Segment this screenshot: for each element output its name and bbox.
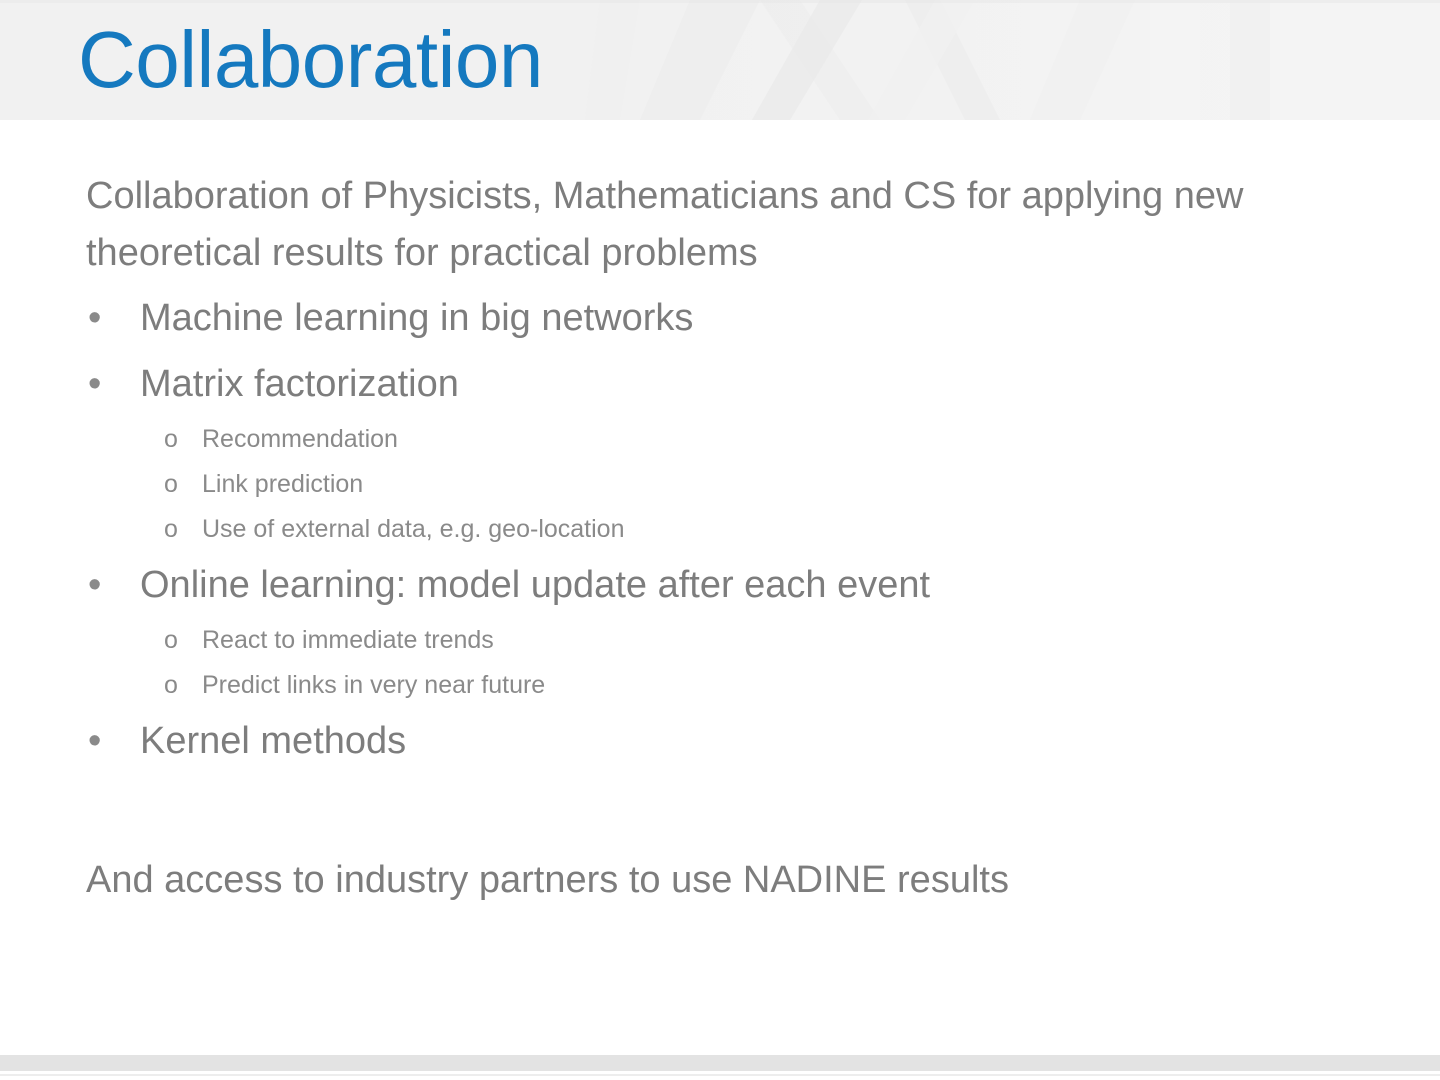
slide-header: Collaboration <box>0 0 1440 120</box>
list-item: • Machine learning in big networks <box>0 285 1440 351</box>
footer-band <box>0 1055 1440 1071</box>
page-title: Collaboration <box>78 8 543 112</box>
sub-list-item: o Predict links in very near future <box>0 663 1440 708</box>
sub-list-item: o React to immediate trends <box>0 618 1440 663</box>
sub-list-item: o Use of external data, e.g. geo-locatio… <box>0 507 1440 552</box>
sub-list-item: o Recommendation <box>0 417 1440 462</box>
sub-bullet-marker-icon: o <box>164 507 188 552</box>
bullet-marker-icon: • <box>88 351 114 417</box>
list-item-label: Machine learning in big networks <box>140 285 1440 351</box>
list-item: • Matrix factorization <box>0 351 1440 417</box>
bullet-list: • Machine learning in big networks • Mat… <box>0 285 1440 774</box>
slide-body: Collaboration of Physicists, Mathematici… <box>0 120 1440 1035</box>
sub-bullet-marker-icon: o <box>164 462 188 507</box>
sub-list-item-label: Use of external data, e.g. geo-location <box>202 507 1440 552</box>
sub-list-item-label: Predict links in very near future <box>202 663 1440 708</box>
list-item-label: Matrix factorization <box>140 351 1440 417</box>
closing-paragraph: And access to industry partners to use N… <box>86 852 1336 909</box>
sub-bullet-marker-icon: o <box>164 663 188 708</box>
list-item-label: Online learning: model update after each… <box>140 552 1440 618</box>
footer-divider <box>0 1074 1440 1076</box>
sub-list-item-label: Link prediction <box>202 462 1440 507</box>
list-item-label: Kernel methods <box>140 708 1440 774</box>
lead-paragraph: Collaboration of Physicists, Mathematici… <box>86 168 1266 282</box>
presentation-slide: Collaboration Collaboration of Physicist… <box>0 0 1440 1080</box>
bullet-marker-icon: • <box>88 708 114 774</box>
sub-list-item-label: React to immediate trends <box>202 618 1440 663</box>
list-item: • Online learning: model update after ea… <box>0 552 1440 618</box>
sub-list-item-label: Recommendation <box>202 417 1440 462</box>
sub-bullet-marker-icon: o <box>164 618 188 663</box>
sub-list-item: o Link prediction <box>0 462 1440 507</box>
sub-bullet-marker-icon: o <box>164 417 188 462</box>
bullet-marker-icon: • <box>88 285 114 351</box>
list-item: • Kernel methods <box>0 708 1440 774</box>
bullet-marker-icon: • <box>88 552 114 618</box>
